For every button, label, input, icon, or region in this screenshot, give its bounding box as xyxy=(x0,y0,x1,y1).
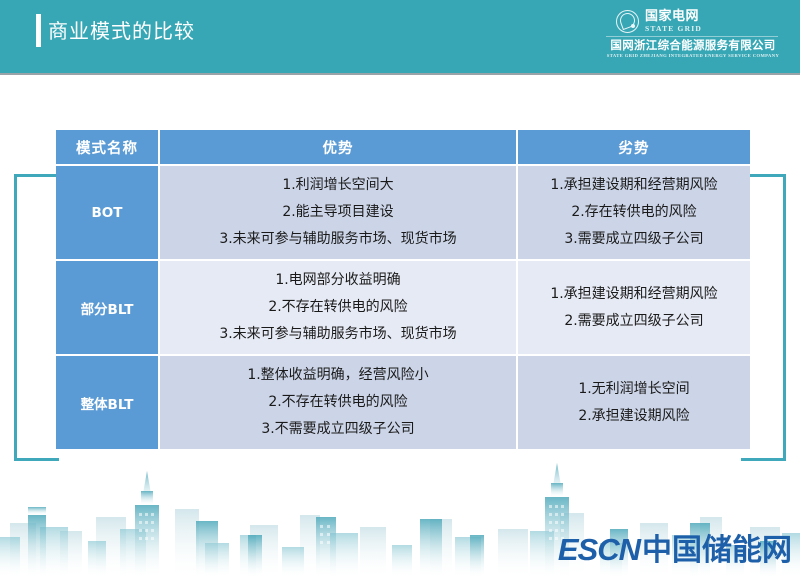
advantage-item: 1.整体收益明确，经营风险小 xyxy=(164,362,512,389)
disadvantage-item: 2.存在转供电的风险 xyxy=(522,199,746,226)
advantage-item: 2.不存在转供电的风险 xyxy=(164,294,512,321)
disadvantages-cell: 1.无利润增长空间 2.承担建设期风险 xyxy=(518,356,750,449)
company-logo: 国家电网 STATE GRID 国网浙江综合能源服务有限公司 STATE GRI… xyxy=(594,8,784,60)
advantage-item: 1.利润增长空间大 xyxy=(164,172,512,199)
title-accent-bar xyxy=(36,14,41,47)
disadvantages-cell: 1.承担建设期和经营期风险 2.存在转供电的风险 3.需要成立四级子公司 xyxy=(518,166,750,259)
mode-name-cell: 整体BLT xyxy=(56,356,158,449)
left-bracket-decoration xyxy=(14,174,59,461)
advantage-item: 3.未来可参与辅助服务市场、现货市场 xyxy=(164,321,512,348)
logo-secondary-row: 国网浙江综合能源服务有限公司 STATE GRID ZHEJIANG INTEG… xyxy=(594,39,784,59)
disadvantage-item: 1.承担建设期和经营期风险 xyxy=(522,281,746,308)
disadvantage-item: 3.需要成立四级子公司 xyxy=(522,226,746,253)
column-header-disadvantages: 劣势 xyxy=(518,130,750,164)
page-title: 商业模式的比较 xyxy=(48,16,195,46)
advantages-cell: 1.利润增长空间大 2.能主导项目建设 3.未来可参与辅助服务市场、现货市场 xyxy=(160,166,516,259)
logo-line1-cn: 国家电网 xyxy=(645,10,702,24)
table-row: BOT 1.利润增长空间大 2.能主导项目建设 3.未来可参与辅助服务市场、现货… xyxy=(56,166,750,259)
watermark-brand-latin: ESCN xyxy=(558,532,640,568)
watermark-brand-cn: 中国储能网 xyxy=(642,525,792,569)
mode-name-cell: 部分BLT xyxy=(56,261,158,354)
column-header-mode-name: 模式名称 xyxy=(56,130,158,164)
advantage-item: 3.不需要成立四级子公司 xyxy=(164,416,512,443)
business-model-comparison-table: 模式名称 优势 劣势 BOT 1.利润增长空间大 2.能主导项目建设 3.未来可… xyxy=(54,128,752,451)
escn-watermark: ESCN 中国储能网 xyxy=(558,525,792,569)
disadvantage-item: 1.无利润增长空间 xyxy=(522,376,746,403)
table-row: 部分BLT 1.电网部分收益明确 2.不存在转供电的风险 3.未来可参与辅助服务… xyxy=(56,261,750,354)
logo-divider xyxy=(606,36,778,37)
advantages-cell: 1.整体收益明确，经营风险小 2.不存在转供电的风险 3.不需要成立四级子公司 xyxy=(160,356,516,449)
state-grid-emblem-icon xyxy=(616,10,639,33)
table-row: 整体BLT 1.整体收益明确，经营风险小 2.不存在转供电的风险 3.不需要成立… xyxy=(56,356,750,449)
advantage-item: 3.未来可参与辅助服务市场、现货市场 xyxy=(164,226,512,253)
disadvantage-item: 2.承担建设期风险 xyxy=(522,403,746,430)
advantage-item: 1.电网部分收益明确 xyxy=(164,267,512,294)
logo-primary-row: 国家电网 STATE GRID xyxy=(594,8,784,34)
logo-line1-en: STATE GRID xyxy=(645,24,702,33)
page-header-band: 商业模式的比较 国家电网 STATE GRID 国网浙江综合能源服务有限公司 S… xyxy=(0,0,800,75)
disadvantage-item: 1.承担建设期和经营期风险 xyxy=(522,172,746,199)
logo-line2-en: STATE GRID ZHEJIANG INTEGRATED ENERGY SE… xyxy=(602,52,784,59)
logo-line2-cn: 国网浙江综合能源服务有限公司 xyxy=(602,39,784,52)
comparison-table-wrapper: 模式名称 优势 劣势 BOT 1.利润增长空间大 2.能主导项目建设 3.未来可… xyxy=(54,128,748,451)
advantage-item: 2.能主导项目建设 xyxy=(164,199,512,226)
disadvantage-item: 2.需要成立四级子公司 xyxy=(522,308,746,335)
table-header-row: 模式名称 优势 劣势 xyxy=(56,130,750,164)
column-header-advantages: 优势 xyxy=(160,130,516,164)
mode-name-cell: BOT xyxy=(56,166,158,259)
disadvantages-cell: 1.承担建设期和经营期风险 2.需要成立四级子公司 xyxy=(518,261,750,354)
advantage-item: 2.不存在转供电的风险 xyxy=(164,389,512,416)
advantages-cell: 1.电网部分收益明确 2.不存在转供电的风险 3.未来可参与辅助服务市场、现货市… xyxy=(160,261,516,354)
